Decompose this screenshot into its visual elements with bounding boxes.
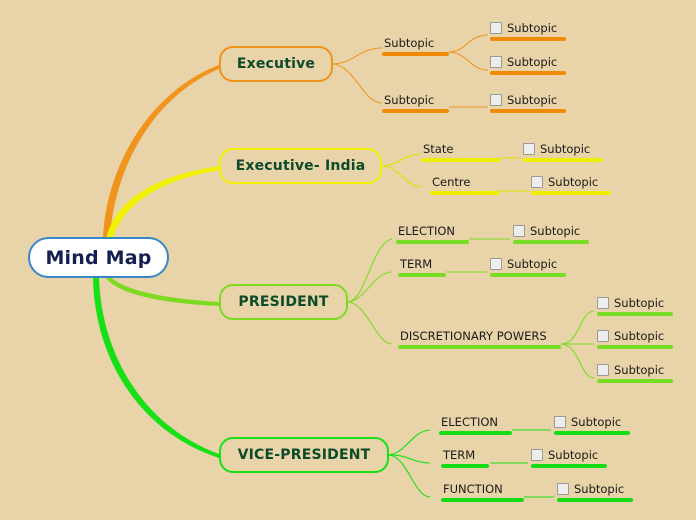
leaf-president-3-3[interactable]: Subtopic xyxy=(597,363,673,383)
sub-branch-bar xyxy=(421,158,500,162)
sub-branch-label: DISCRETIONARY POWERS xyxy=(398,329,561,343)
sub-branch-president-2[interactable]: TERM xyxy=(398,257,446,277)
leaf-india-1-1[interactable]: Subtopic xyxy=(523,142,603,162)
link-president-sub3 xyxy=(348,302,392,344)
leaf-bar xyxy=(490,37,566,41)
sub-branch-label: Subtopic xyxy=(382,36,449,50)
sub-branch-bar xyxy=(396,240,469,244)
checkbox-icon[interactable] xyxy=(490,56,502,68)
leaf-bar xyxy=(597,312,673,316)
leaf-bar xyxy=(597,379,673,383)
link-root-president xyxy=(105,276,219,306)
leaf-label: Subtopic xyxy=(571,415,621,429)
link-root-executive-india xyxy=(106,166,221,241)
root-node[interactable]: Mind Map xyxy=(28,237,169,278)
leaf-label: Subtopic xyxy=(614,296,664,310)
sub-branch-president-3[interactable]: DISCRETIONARY POWERS xyxy=(398,329,561,349)
checkbox-icon[interactable] xyxy=(597,297,609,309)
leaf-label: Subtopic xyxy=(548,175,598,189)
sub-branch-vp-3[interactable]: FUNCTION xyxy=(441,482,524,502)
sub-branch-bar xyxy=(382,109,449,113)
checkbox-icon[interactable] xyxy=(531,176,543,188)
link-president-sub2 xyxy=(348,272,392,302)
sub-branch-executive-1[interactable]: Subtopic xyxy=(382,36,449,56)
leaf-india-2-1[interactable]: Subtopic xyxy=(531,175,611,195)
sub-branch-label: ELECTION xyxy=(396,224,469,238)
leaf-bar xyxy=(531,191,611,195)
checkbox-icon[interactable] xyxy=(490,22,502,34)
link-root-executive xyxy=(103,64,221,241)
branch-node-label: Executive- India xyxy=(236,158,366,174)
leaf-bar xyxy=(557,498,633,502)
checkbox-icon[interactable] xyxy=(490,258,502,270)
checkbox-icon[interactable] xyxy=(557,483,569,495)
leaf-vp-3-1[interactable]: Subtopic xyxy=(557,482,633,502)
leaf-bar xyxy=(490,109,566,113)
link-executive-sub1 xyxy=(333,48,382,64)
leaf-bar xyxy=(531,464,607,468)
checkbox-icon[interactable] xyxy=(597,364,609,376)
sub-branch-bar xyxy=(441,498,524,502)
link-vp-sub2 xyxy=(389,455,430,463)
sub-branch-bar xyxy=(398,345,561,349)
mind-map-canvas: Mind Map Executive Subtopic Subtopic Sub… xyxy=(0,0,696,520)
leaf-bar xyxy=(554,431,630,435)
link-india-sub2 xyxy=(382,166,421,187)
sub-branch-president-1[interactable]: ELECTION xyxy=(396,224,469,244)
branch-node-executive-india[interactable]: Executive- India xyxy=(219,148,382,184)
root-node-label: Mind Map xyxy=(45,247,151,269)
leaf-executive-2-1[interactable]: Subtopic xyxy=(490,93,566,113)
checkbox-icon[interactable] xyxy=(490,94,502,106)
checkbox-icon[interactable] xyxy=(531,449,543,461)
sub-branch-label: Centre xyxy=(430,175,500,189)
leaf-label: Subtopic xyxy=(530,224,580,238)
leaf-vp-1-1[interactable]: Subtopic xyxy=(554,415,630,435)
sub-branch-bar xyxy=(430,191,500,195)
sub-branch-label: Subtopic xyxy=(382,93,449,107)
sub-branch-label: State xyxy=(421,142,500,156)
sub-branch-label: FUNCTION xyxy=(441,482,524,496)
sub-branch-bar xyxy=(439,431,512,435)
leaf-bar xyxy=(597,345,673,349)
leaf-vp-2-1[interactable]: Subtopic xyxy=(531,448,607,468)
sub-branch-india-1[interactable]: State xyxy=(421,142,500,162)
leaf-bar xyxy=(513,240,589,244)
link-vp-sub1 xyxy=(389,430,430,455)
link-vp-sub3 xyxy=(389,455,430,497)
sub-branch-label: TERM xyxy=(398,257,446,271)
sub-branch-bar xyxy=(398,273,446,277)
leaf-executive-1-2[interactable]: Subtopic xyxy=(490,55,566,75)
sub-branch-bar xyxy=(382,52,449,56)
link-president-sub3-leaf1 xyxy=(561,311,594,344)
branch-node-label: PRESIDENT xyxy=(238,294,328,310)
leaf-label: Subtopic xyxy=(507,93,557,107)
link-president-sub3-leaf3 xyxy=(561,344,594,378)
link-executive-sub1-leaf2 xyxy=(449,52,488,70)
sub-branch-vp-1[interactable]: ELECTION xyxy=(439,415,512,435)
leaf-label: Subtopic xyxy=(574,482,624,496)
link-india-sub1 xyxy=(382,154,421,166)
link-executive-sub1-leaf1 xyxy=(449,35,488,52)
branch-node-label: Executive xyxy=(237,56,315,72)
branch-node-president[interactable]: PRESIDENT xyxy=(219,284,348,320)
leaf-president-2-1[interactable]: Subtopic xyxy=(490,257,566,277)
leaf-label: Subtopic xyxy=(548,448,598,462)
leaf-label: Subtopic xyxy=(507,257,557,271)
leaf-president-1-1[interactable]: Subtopic xyxy=(513,224,589,244)
sub-branch-label: ELECTION xyxy=(439,415,512,429)
sub-branch-bar xyxy=(441,464,489,468)
checkbox-icon[interactable] xyxy=(597,330,609,342)
leaf-bar xyxy=(490,273,566,277)
sub-branch-executive-2[interactable]: Subtopic xyxy=(382,93,449,113)
leaf-label: Subtopic xyxy=(614,363,664,377)
leaf-label: Subtopic xyxy=(614,329,664,343)
branch-node-vice-president[interactable]: VICE-PRESIDENT xyxy=(219,437,389,473)
sub-branch-india-2[interactable]: Centre xyxy=(430,175,500,195)
link-executive-sub2 xyxy=(333,64,382,103)
checkbox-icon[interactable] xyxy=(554,416,566,428)
leaf-label: Subtopic xyxy=(540,142,590,156)
leaf-president-3-2[interactable]: Subtopic xyxy=(597,329,673,349)
link-president-sub1 xyxy=(348,239,392,302)
leaf-bar xyxy=(523,158,603,162)
leaf-label: Subtopic xyxy=(507,55,557,69)
leaf-bar xyxy=(490,71,566,75)
leaf-president-3-1[interactable]: Subtopic xyxy=(597,296,673,316)
leaf-label: Subtopic xyxy=(507,21,557,35)
branch-node-label: VICE-PRESIDENT xyxy=(238,447,371,463)
branch-node-executive[interactable]: Executive xyxy=(219,46,333,82)
sub-branch-vp-2[interactable]: TERM xyxy=(441,448,489,468)
link-root-vicepresident xyxy=(93,277,219,458)
checkbox-icon[interactable] xyxy=(513,225,525,237)
checkbox-icon[interactable] xyxy=(523,143,535,155)
leaf-executive-1-1[interactable]: Subtopic xyxy=(490,21,566,41)
sub-branch-label: TERM xyxy=(441,448,489,462)
